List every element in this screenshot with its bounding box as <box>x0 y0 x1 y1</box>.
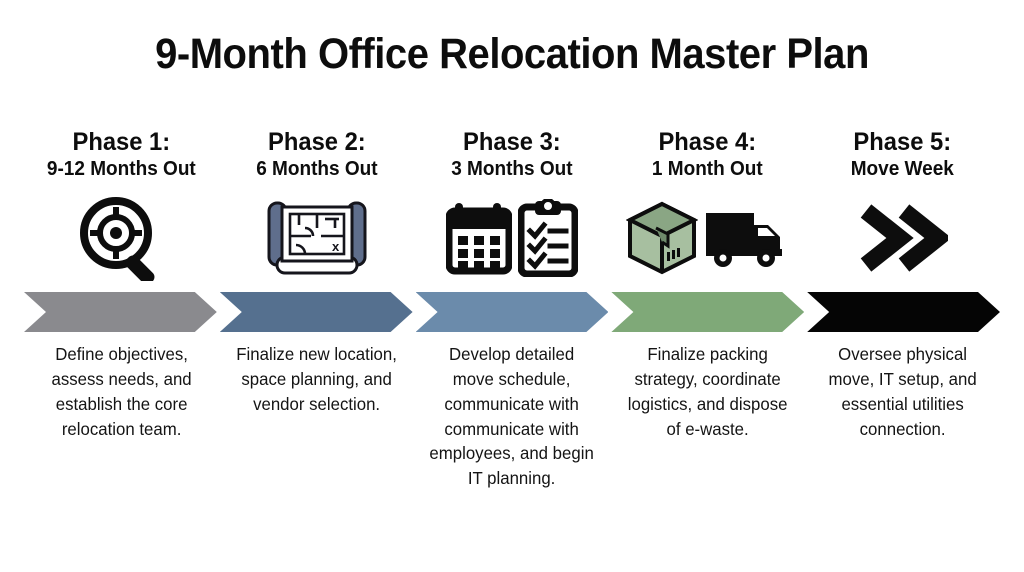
phase-title-1: Phase 1: <box>47 128 196 156</box>
phase-column-2: Phase 2: 6 Months Out <box>219 128 414 284</box>
phase-description-3: Develop detailed move schedule, communic… <box>418 342 605 491</box>
phase-title-5: Phase 5: <box>851 128 954 156</box>
double-chevron-icon <box>856 203 948 273</box>
phase-description-2: Finalize new location, space planning, a… <box>223 342 410 417</box>
phase-column-4: Phase 4: 1 Month Out <box>610 128 805 284</box>
phase-description-row: Define objectives, assess needs, and est… <box>24 342 1000 491</box>
phase-icon-2: x <box>265 192 369 284</box>
phase-description-4: Finalize packing strategy, coordinate lo… <box>614 342 801 441</box>
phase-subtitle-4: 1 Month Out <box>652 158 763 180</box>
clipboard-checklist-icon <box>518 199 578 277</box>
phase-column-3: Phase 3: 3 Months Out <box>414 128 609 284</box>
phase-arrow-2 <box>220 292 413 332</box>
phase-description-5: Oversee physical move, IT setup, and ess… <box>809 342 996 441</box>
phase-icon-1 <box>76 192 168 284</box>
phase-heading-3: Phase 3: 3 Months Out <box>451 128 572 180</box>
phase-subtitle-5: Move Week <box>851 158 954 180</box>
phase-column-1: Phase 1: 9-12 Months Out <box>24 128 219 284</box>
moving-truck-icon <box>704 207 788 269</box>
phase-icon-5 <box>856 192 948 284</box>
phase-header-row: Phase 1: 9-12 Months Out <box>24 128 1000 284</box>
magnifier-target-icon <box>76 195 168 281</box>
phase-description-1: Define objectives, assess needs, and est… <box>28 342 215 441</box>
phase-title-3: Phase 3: <box>451 128 572 156</box>
phase-heading-2: Phase 2: 6 Months Out <box>256 128 377 180</box>
moving-box-icon <box>626 200 698 276</box>
phase-title-4: Phase 4: <box>652 128 763 156</box>
phase-subtitle-1: 9-12 Months Out <box>47 158 196 180</box>
svg-text:x: x <box>332 239 340 254</box>
blueprint-floorplan-icon: x <box>265 197 369 279</box>
phase-heading-1: Phase 1: 9-12 Months Out <box>47 128 196 180</box>
phase-icon-3 <box>446 192 578 284</box>
phase-arrow-4 <box>611 292 804 332</box>
phase-arrow-1 <box>24 292 217 332</box>
phase-column-5: Phase 5: Move Week <box>805 128 1000 284</box>
phase-icon-4 <box>626 192 788 284</box>
page-title: 9-Month Office Relocation Master Plan <box>36 30 988 79</box>
phase-arrow-5 <box>807 292 1000 332</box>
phase-heading-5: Phase 5: Move Week <box>851 128 954 180</box>
phase-arrow-band <box>24 292 1000 332</box>
infographic-canvas: 9-Month Office Relocation Master Plan Ph… <box>0 0 1024 572</box>
phase-title-2: Phase 2: <box>256 128 377 156</box>
calendar-icon <box>446 201 512 275</box>
phase-subtitle-2: 6 Months Out <box>256 158 377 180</box>
phase-arrow-3 <box>416 292 609 332</box>
phase-subtitle-3: 3 Months Out <box>451 158 572 180</box>
phase-heading-4: Phase 4: 1 Month Out <box>652 128 763 180</box>
